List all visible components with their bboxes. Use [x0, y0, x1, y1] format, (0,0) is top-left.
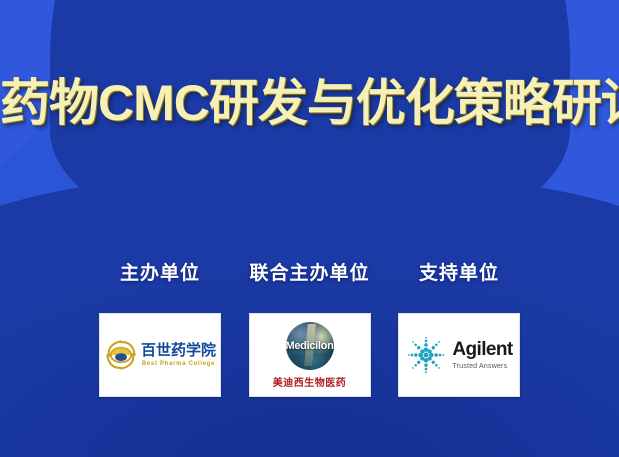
- agilent-tagline: Trusted Answers: [452, 363, 507, 370]
- bpc-english-name: Best Pharma College: [142, 361, 215, 367]
- agilent-logo: Agilent Trusted Answers: [400, 334, 517, 376]
- page-title: 药物CMC研发与优化策略研讨会: [0, 74, 619, 132]
- event-poster: 药物CMC研发与优化策略研讨会 主办单位: [0, 0, 619, 457]
- logo-card-best-pharma-college: 百世药学院 Best Pharma College: [99, 313, 221, 397]
- bpc-chinese-name: 百世药学院: [141, 343, 216, 358]
- medicilon-chinese-name: 美迪西生物医药: [273, 374, 347, 389]
- medicilon-logo: Medicilon 美迪西生物医药: [273, 322, 347, 389]
- organizer-label-supporter: 支持单位: [419, 258, 499, 285]
- organizer-label-host: 主办单位: [120, 258, 200, 285]
- agilent-starburst-icon: [405, 334, 447, 376]
- agilent-wordmark: Agilent: [452, 340, 512, 359]
- medicilon-circle-image-icon: Medicilon: [286, 322, 334, 370]
- organizer-label-cohost: 联合主办单位: [249, 258, 369, 285]
- organizer-column-cohost: 联合主办单位 Medicilon 美迪西生物医药: [245, 258, 375, 397]
- bpc-emblem-icon: [104, 338, 138, 372]
- organizer-column-host: 主办单位: [95, 258, 225, 397]
- best-pharma-college-logo: 百世药学院 Best Pharma College: [100, 338, 220, 372]
- logo-card-agilent: Agilent Trusted Answers: [398, 313, 520, 397]
- organizer-section: 主办单位: [95, 258, 524, 397]
- logo-card-medicilon: Medicilon 美迪西生物医药: [249, 313, 371, 397]
- agilent-text-block: Agilent Trusted Answers: [452, 340, 512, 370]
- medicilon-wordmark: Medicilon: [286, 340, 334, 352]
- bpc-text-block: 百世药学院 Best Pharma College: [141, 343, 216, 367]
- organizer-column-supporter: 支持单位: [394, 258, 524, 397]
